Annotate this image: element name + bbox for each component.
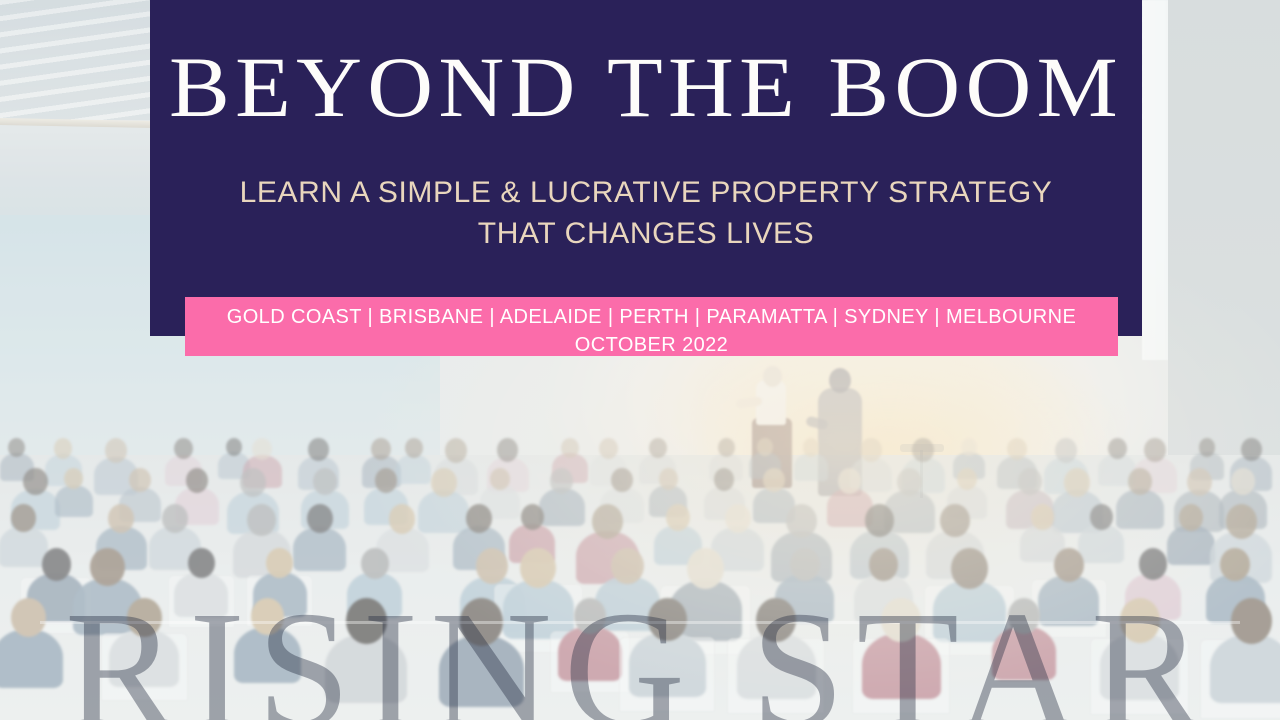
audience-member-head (313, 468, 337, 495)
audience-member-head (226, 438, 242, 456)
audience-member-head (405, 438, 423, 458)
audience-member-head (725, 504, 751, 533)
audience-member-head (11, 504, 36, 532)
audience-member-head (757, 438, 773, 456)
audience-member-head (1226, 504, 1257, 539)
audience-member-head (371, 438, 391, 460)
audience-member-head (252, 438, 272, 460)
audience-member (234, 627, 301, 683)
audience-member (1078, 524, 1124, 563)
audience-member-head (1055, 438, 1077, 463)
poster-title: BEYOND THE BOOM (120, 44, 1172, 130)
audience-member-head (361, 548, 389, 579)
audience-member-head (1031, 504, 1054, 530)
audience-member-head (375, 468, 397, 493)
audience-member-head (1128, 468, 1152, 495)
audience-member-head (308, 438, 328, 461)
audience-member (992, 626, 1056, 680)
audience-member-head (307, 504, 333, 533)
audience-member (174, 572, 228, 617)
cities-dates-banner: GOLD COAST | BRISBANE | ADELAIDE | PERTH… (185, 297, 1118, 356)
audience-member (325, 634, 407, 703)
audience-member (109, 629, 179, 688)
audience-member-head (786, 504, 817, 538)
audience-member-head (940, 504, 969, 537)
audience-member-head (8, 438, 25, 457)
audience-crowd (0, 430, 1280, 720)
audience-member-head (803, 438, 820, 457)
audience-member-head (756, 598, 796, 642)
audience-member-head (1090, 504, 1113, 530)
audience-member-head (1008, 598, 1040, 634)
audience-member (55, 485, 93, 517)
audience-member (1100, 633, 1180, 700)
audience-member-head (561, 438, 579, 458)
audience-member-head (659, 468, 678, 490)
audience-member (737, 633, 816, 699)
poster-subtitle: LEARN A SIMPLE & LUCRATIVE PROPERTY STRA… (210, 172, 1082, 255)
audience-member-head (490, 468, 510, 490)
subtitle-line-2: THAT CHANGES LIVES (478, 217, 814, 250)
audience-member-head (108, 504, 134, 533)
audience-member-head (174, 438, 193, 459)
speaker-two-head (829, 368, 851, 393)
navy-headline-panel: BEYOND THE BOOM LEARN A SIMPLE & LUCRATI… (150, 0, 1142, 336)
audience-member (1116, 489, 1164, 529)
audience-member-head (1231, 598, 1272, 644)
audience-member-head (957, 468, 977, 490)
audience-member (794, 453, 828, 481)
audience-member (1167, 525, 1215, 565)
audience-member-head (592, 504, 623, 539)
audience-member-head (611, 548, 644, 584)
hall-right-wall (1168, 0, 1280, 470)
audience-member-head (574, 598, 606, 634)
audience-member-head (389, 504, 415, 534)
audience-member-head (1179, 504, 1203, 531)
audience-member-head (865, 504, 894, 537)
audience-member-head (23, 468, 47, 495)
audience-member-head (127, 598, 162, 637)
audience-member (862, 633, 941, 699)
audience-member-head (466, 504, 492, 533)
audience-member-head (860, 438, 881, 462)
audience-member (439, 635, 525, 707)
audience-member-head (188, 548, 215, 578)
audience-member-head (951, 548, 988, 589)
audience-member-head (1241, 438, 1262, 461)
speaker-one-head (763, 366, 782, 387)
audience-member-head (1064, 468, 1090, 497)
audience-member-head (611, 468, 633, 492)
audience-member (418, 490, 469, 533)
audience-member-head (1187, 468, 1212, 496)
audience-member-head (687, 548, 724, 589)
audience-member-head (42, 548, 71, 581)
audience-member (0, 526, 48, 567)
audience-member-head (838, 468, 861, 494)
audience-member (1210, 634, 1280, 703)
audience-member-head (1144, 438, 1166, 462)
audience-member-head (869, 548, 898, 581)
audience-member-head (790, 548, 819, 581)
cities-list: GOLD COAST | BRISBANE | ADELAIDE | PERTH… (185, 303, 1118, 331)
audience-member (396, 454, 432, 484)
audience-member-head (11, 598, 46, 637)
audience-member (539, 488, 585, 526)
audience-member-head (129, 468, 150, 492)
event-promo-poster: RISING STAR BEYOND THE BOOM LEARN A SIMP… (0, 0, 1280, 720)
audience-member-head (346, 598, 387, 644)
audience-member (933, 580, 1006, 642)
audience-member-head (240, 468, 266, 497)
subtitle-line-1: LEARN A SIMPLE & LUCRATIVE PROPERTY STRA… (240, 176, 1053, 209)
audience-member-head (718, 438, 735, 457)
audience-member-head (162, 504, 188, 533)
audience-member-head (912, 438, 934, 462)
audience-member (629, 632, 706, 697)
audience-member-head (666, 504, 690, 531)
audience-member-head (599, 438, 618, 459)
audience-member-head (649, 438, 667, 458)
audience-member-head (1018, 468, 1042, 495)
audience-member-head (550, 468, 573, 494)
audience-member-head (186, 468, 208, 493)
audience-member-head (881, 598, 921, 642)
event-date: OCTOBER 2022 (185, 331, 1118, 359)
audience-member-head (1120, 598, 1160, 643)
audience-member-head (90, 548, 124, 586)
audience-member-head (431, 468, 457, 497)
audience-member-head (1199, 438, 1216, 457)
audience-member-head (460, 598, 503, 646)
audience-member-head (961, 438, 977, 456)
audience-member-head (445, 438, 467, 463)
audience-member-head (105, 438, 127, 463)
audience-member-head (1139, 548, 1167, 580)
audience-member-head (648, 598, 687, 641)
audience-member-head (1220, 548, 1250, 581)
audience-member-head (521, 504, 544, 530)
audience-member (558, 626, 623, 680)
audience-member-head (520, 548, 556, 588)
audience-member-head (1054, 548, 1084, 582)
audience-member (0, 629, 63, 688)
audience-member (293, 527, 345, 571)
audience-member-head (1231, 468, 1255, 495)
audience-member (1038, 575, 1099, 626)
audience-member-head (763, 468, 784, 492)
audience-member-head (1108, 438, 1127, 459)
